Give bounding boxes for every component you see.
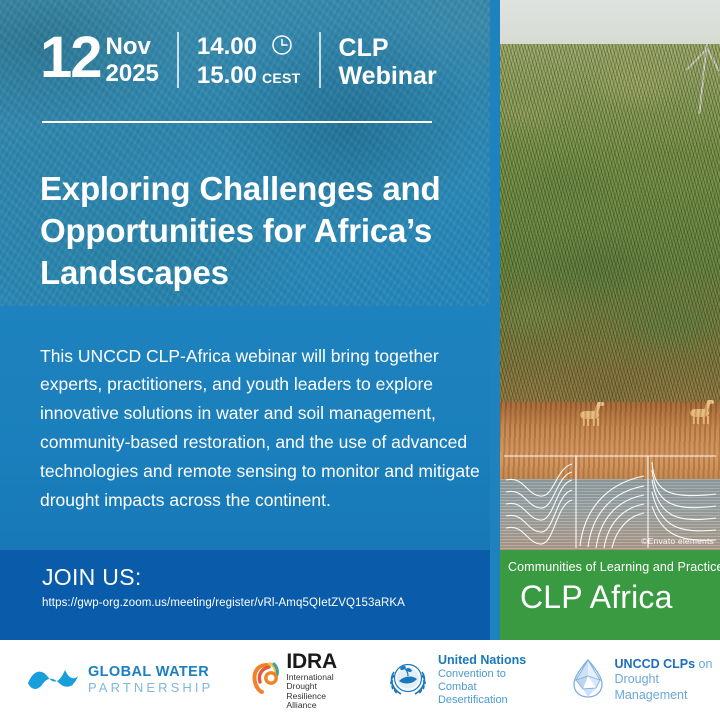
photo-bare-tree — [698, 44, 707, 114]
logo-unccd-clps-drought: UNCCD CLPs on Drought Management — [569, 640, 720, 720]
event-header: 12 Nov 2025 14.00 15.00CEST — [40, 30, 437, 90]
photo-impala — [578, 408, 604, 426]
left-content-panel — [0, 0, 500, 640]
event-time-end-row: 15.00CEST — [197, 63, 301, 90]
logo-unccd-line2: Convention to Combat — [438, 668, 533, 694]
photo-impala — [688, 406, 714, 424]
event-type-line1: CLP — [339, 34, 437, 62]
join-us-label: JOIN US: — [42, 564, 142, 591]
logo-gwp-line1: GLOBAL WATER — [88, 665, 213, 681]
logo-global-water-partnership: GLOBAL WATER PARTNERSHIP — [26, 640, 213, 720]
logo-idra: IDRA International Drought Resilience Al… — [251, 640, 356, 720]
logo-idra-text: IDRA International Drought Resilience Al… — [286, 650, 356, 711]
event-day: 12 — [40, 30, 101, 85]
header-rule — [42, 121, 432, 123]
logo-unccd-text: United Nations Convention to Combat Dese… — [438, 653, 533, 708]
logo-clps-line2: Drought Management — [615, 672, 720, 703]
event-time: 14.00 15.00CEST — [197, 30, 301, 90]
panel-separator-strip — [490, 0, 500, 640]
header-divider-1 — [177, 32, 179, 88]
photo-bushland — [500, 44, 720, 418]
water-droplet-icon — [569, 656, 607, 705]
un-laurel-emblem-icon — [386, 656, 430, 705]
logo-clps-text: UNCCD CLPs on Drought Management — [615, 657, 720, 703]
logo-gwp-text: GLOBAL WATER PARTNERSHIP — [88, 665, 213, 695]
webinar-poster: 12 Nov 2025 14.00 15.00CEST — [0, 0, 720, 720]
event-time-start-row: 14.00 — [197, 34, 301, 63]
join-us-band: JOIN US: https://gwp-org.zoom.us/meeting… — [0, 550, 500, 640]
clp-subtitle: Communities of Learning and Practice — [508, 560, 720, 574]
logo-unccd: United Nations Convention to Combat Dese… — [386, 640, 533, 720]
clp-africa-panel: Communities of Learning and Practice CLP… — [500, 550, 720, 640]
photo-credit: ©Envato elements — [641, 536, 714, 546]
header-divider-2 — [319, 32, 321, 88]
event-month-year: Nov 2025 — [106, 30, 159, 88]
event-month: Nov — [106, 34, 159, 61]
logo-idra-line3: Resilience Alliance — [286, 692, 356, 711]
event-description: This UNCCD CLP-Africa webinar will bring… — [40, 342, 480, 515]
partner-logo-bar: GLOBAL WATER PARTNERSHIP IDRA Internatio… — [0, 640, 720, 720]
logo-idra-line1: IDRA — [286, 650, 356, 673]
logo-unccd-line3: Desertification — [438, 694, 533, 707]
clock-icon — [271, 34, 293, 63]
logo-gwp-line2: PARTNERSHIP — [88, 681, 213, 695]
logo-unccd-line1: United Nations — [438, 653, 533, 668]
logo-clps-line1: UNCCD CLPs on — [615, 657, 720, 672]
african-savanna-riverbank-photo: ©Envato elements — [500, 0, 720, 550]
registration-link[interactable]: https://gwp-org.zoom.us/meeting/register… — [42, 597, 405, 609]
event-type: CLP Webinar — [339, 30, 437, 90]
logo-clps-line1-rest: on — [695, 657, 712, 671]
page-title: Exploring Challenges and Opportunities f… — [40, 168, 490, 294]
event-time-start: 14.00 — [197, 33, 257, 60]
event-date: 12 Nov 2025 — [40, 30, 159, 88]
logo-clps-line1-strong: UNCCD CLPs — [615, 657, 696, 671]
logo-idra-line2: International Drought — [286, 673, 356, 692]
event-type-line2: Webinar — [339, 62, 437, 90]
event-year: 2025 — [106, 61, 159, 88]
idra-spiral-icon — [251, 661, 281, 700]
photo-sandy-bank — [500, 402, 720, 490]
clp-title: CLP Africa — [520, 579, 673, 616]
event-timezone: CEST — [262, 70, 301, 86]
wave-mark-icon — [26, 663, 80, 698]
event-time-end: 15.00 — [197, 62, 257, 89]
